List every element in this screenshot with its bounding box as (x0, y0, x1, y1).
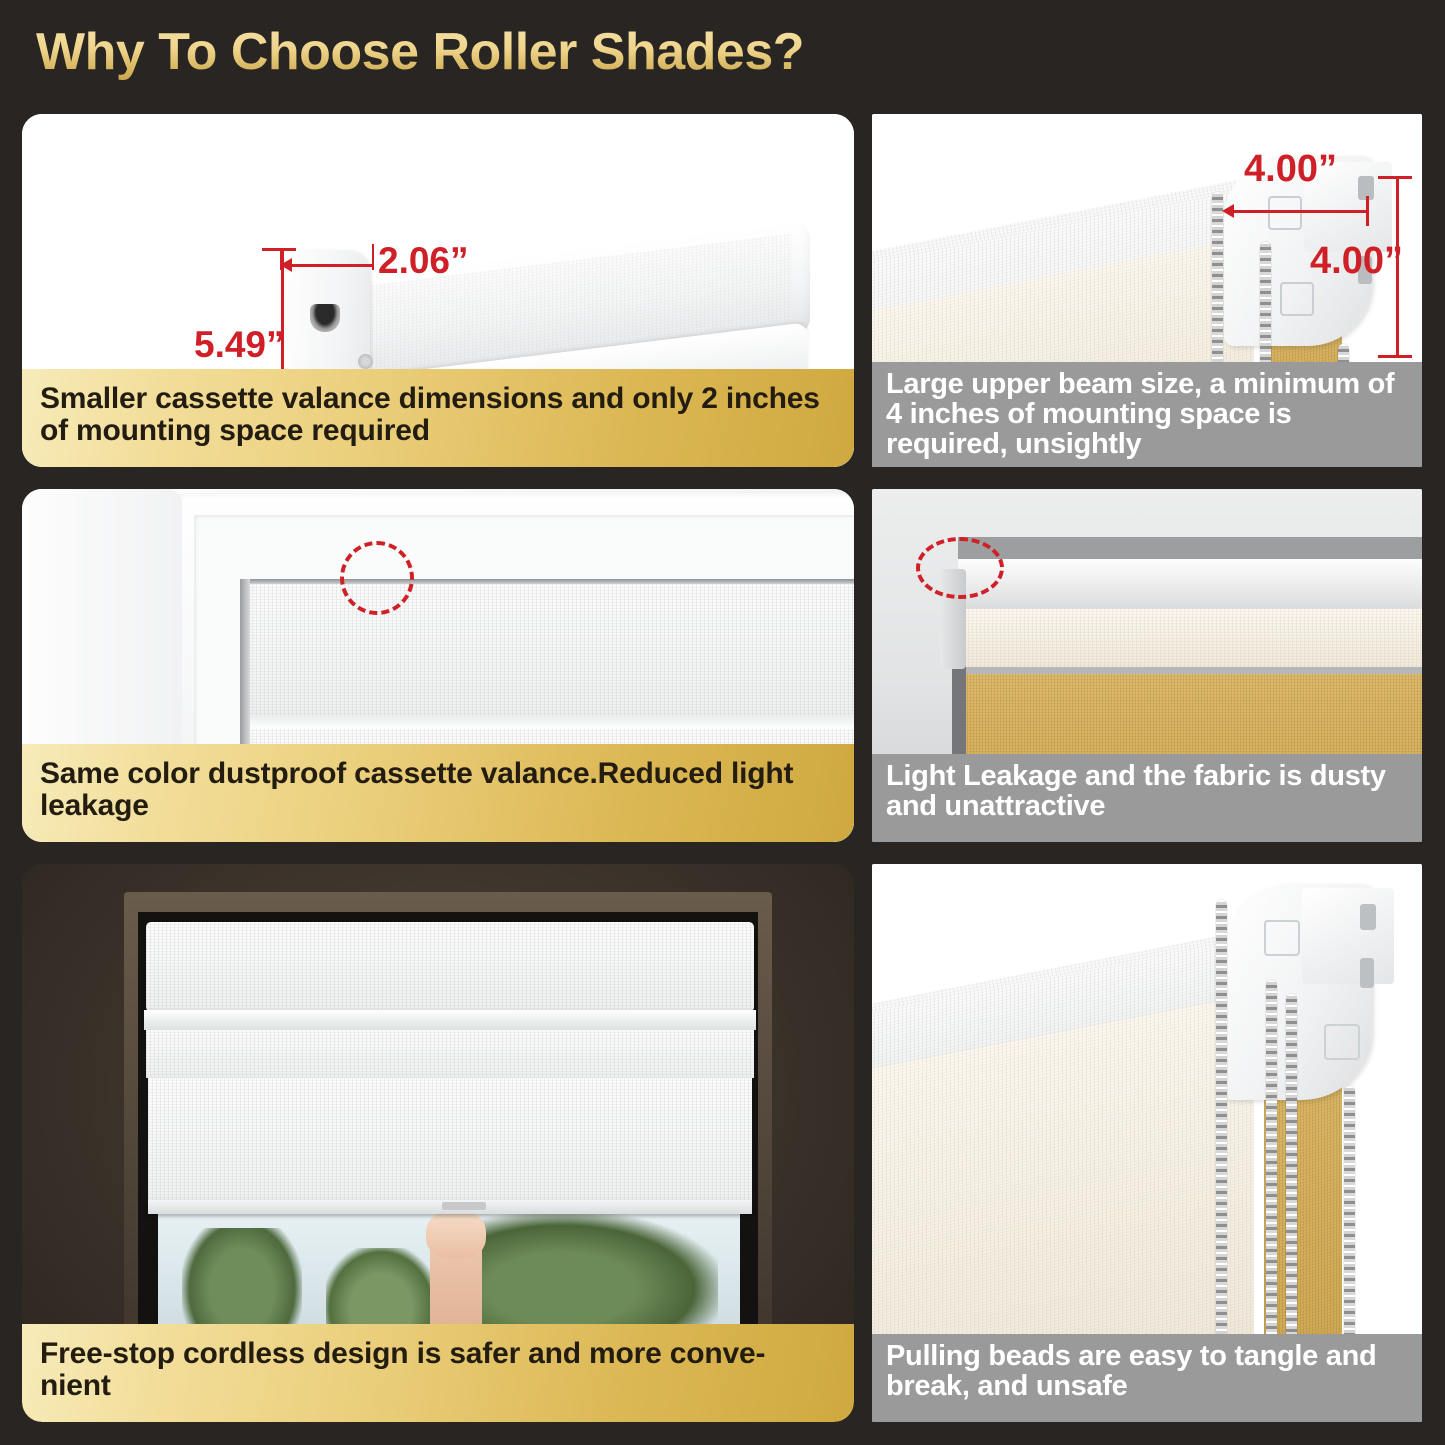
panel-drawback-pull-beads: Pulling beads are easy to tangle and bre… (872, 864, 1422, 1422)
dim-height-tick-top (262, 248, 296, 251)
panel-3-caption: Same color dustproof cassette valance.Re… (22, 744, 854, 842)
headrail-lip (144, 1010, 756, 1030)
bracket-plate-top (1302, 888, 1394, 984)
pull-bead-chain-long-2 (1266, 980, 1277, 1370)
highlight-circle-seam (340, 541, 414, 615)
valance-second-band (146, 1030, 754, 1078)
beam-dimension-label-height: 4.00” (1310, 240, 1403, 283)
panel-6-caption: Pulling beads are easy to tangle and bre… (872, 1334, 1422, 1422)
bracket-slot-2-icon (1360, 958, 1374, 988)
panel-4-caption-text: Light Leakage and the fabric is dusty an… (886, 762, 1410, 822)
dimension-label-height: 5.49” (194, 324, 285, 366)
bracket-slot-icon (310, 304, 340, 332)
beam-dimension-label-width: 4.00” (1244, 148, 1337, 191)
panel-advantage-valance-size: 2.06” 5.49” Smaller cassette valance dim… (22, 114, 854, 467)
dim-width-line (280, 264, 374, 267)
window-frame-left-jamb (22, 489, 182, 749)
fabric-bottom-shadow (964, 667, 1422, 674)
panel-advantage-cordless-design: Free-stop cordless design is safer and m… (22, 864, 854, 1422)
shade-fabric-main (148, 1078, 752, 1210)
pull-bead-chain-long-1 (1216, 900, 1227, 1370)
dimension-label-width: 2.06” (378, 240, 469, 282)
bracket-screw-icon (358, 354, 373, 369)
valance-divider-rail (244, 715, 854, 729)
panel-drawback-light-leakage: Large gap Light Leakage and the fabric i… (872, 489, 1422, 842)
panel-advantage-dustproof-valance: smaller gap Same color dustproof cassett… (22, 489, 854, 842)
panel-1-caption-text: Smaller cassette valance dimensions and … (40, 383, 836, 447)
panel-2-caption-text: Large upper beam size, a minimum of 4 in… (886, 370, 1410, 460)
bracket-symbol-bottom-icon (1324, 1024, 1360, 1060)
panel-3-caption-text: Same color dustproof cassette valance.Re… (40, 758, 836, 822)
panel-5-caption-text: Free-stop cordless design is safer and m… (40, 1338, 765, 1402)
panel-6-caption-text: Pulling beads are easy to tangle and bre… (886, 1342, 1410, 1402)
beam-dim-width-tick-right (1366, 196, 1369, 226)
bracket-symbol-top-icon (1264, 920, 1300, 956)
cassette-headrail (146, 922, 754, 1012)
beam-dim-height-tick-top (1378, 176, 1412, 179)
beam-dim-width-line (1230, 210, 1368, 213)
infographic-page: Why To Choose Roller Shades? 2.06” (0, 0, 1445, 1445)
title-bar: Why To Choose Roller Shades? (0, 0, 1445, 104)
panel-5-caption-line-1: Free-stop cordless design is safer and m… (40, 1337, 765, 1370)
shade-fabric-cream-strip (964, 609, 1422, 669)
bracket-arrow-icon-bottom (1280, 282, 1314, 316)
upper-beam-tube (958, 559, 1422, 611)
panel-1-caption: Smaller cassette valance dimensions and … (22, 369, 854, 467)
highlight-circle-gap (916, 537, 1004, 599)
panel-drawback-beam-size: 4.00” 4.00” Large upper beam size, a min… (872, 114, 1422, 467)
panel-5-caption-line-2: nient (40, 1369, 111, 1402)
panel-2-caption: Large upper beam size, a minimum of 4 in… (872, 362, 1422, 467)
page-title: Why To Choose Roller Shades? (36, 22, 804, 82)
pull-bead-chain-long-3 (1286, 994, 1297, 1370)
bracket-slot-1-icon (1360, 904, 1376, 930)
bracket-arrow-icon-top (1268, 196, 1302, 230)
panel-5-caption: Free-stop cordless design is safer and m… (22, 1324, 854, 1422)
panel-4-caption: Light Leakage and the fabric is dusty an… (872, 754, 1422, 842)
pull-bead-chain-long-4 (1344, 1086, 1355, 1370)
valance-top-edge-line (244, 579, 854, 584)
beam-dim-width-arrow-left (1222, 204, 1234, 218)
brand-tag (442, 1202, 486, 1210)
beam-dim-height-tick-bottom (1378, 355, 1412, 358)
cassette-valance-top (244, 581, 854, 717)
hand-fingers (426, 1212, 486, 1258)
